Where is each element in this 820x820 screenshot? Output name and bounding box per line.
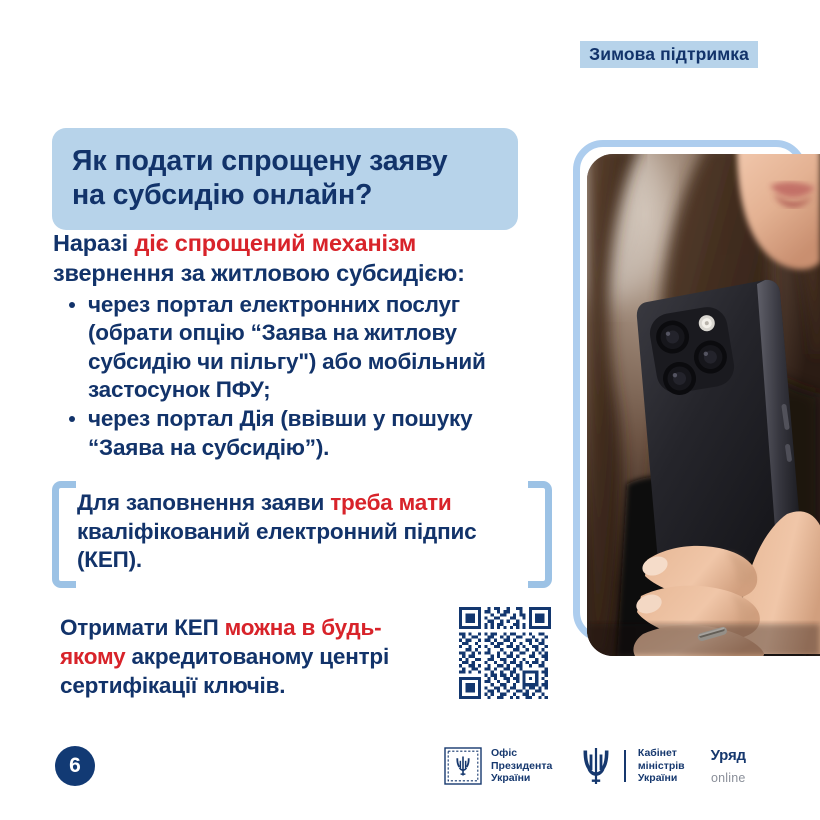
- channels-list: через портал електронних послуг (обрати …: [62, 291, 547, 463]
- page-title: Як подати спрощену заяву на субсидію онл…: [52, 128, 518, 230]
- callout-text-part-1: Для заповнення заяви: [77, 490, 330, 515]
- bracket-left-icon: [52, 481, 76, 588]
- qr-code[interactable]: [459, 607, 551, 699]
- cabinet-trident-icon: [578, 745, 614, 787]
- logo-uryad-online: Уряд online: [711, 748, 746, 785]
- logo-divider: [624, 750, 626, 782]
- logo-uryad-word: Уряд: [711, 748, 746, 763]
- list-item: через портал електронних послуг (обрати …: [62, 291, 547, 404]
- kep-paragraph: Отримати КЕП можна в будь-якому акредито…: [60, 613, 440, 700]
- logo-line-3: України: [491, 772, 552, 785]
- intro-text-part-1: Наразі: [53, 230, 134, 256]
- callout-text-part-2: кваліфікований електронний підпис (КЕП).: [77, 519, 476, 573]
- president-trident-icon: [443, 746, 483, 786]
- photo-woman-with-phone: [587, 154, 820, 656]
- kep-text-part-1: Отримати КЕП: [60, 615, 225, 640]
- logo-line-3: України: [638, 772, 685, 785]
- callout-text: Для заповнення заяви треба мати кваліфік…: [77, 489, 542, 575]
- footer-logos: Офіс Президента України Кабінет: [443, 740, 746, 792]
- page-title-line-2: на субсидію онлайн?: [72, 178, 498, 212]
- intro-paragraph: Наразі діє спрощений механізм звернення …: [53, 229, 533, 289]
- page-number-badge: 6: [55, 746, 95, 786]
- logo-online-word: online: [711, 772, 746, 785]
- bullet-dot-icon: [69, 302, 75, 308]
- status-badge: Зимова підтримка: [580, 41, 758, 68]
- logo-line-2: Президента: [491, 760, 552, 773]
- list-item-label: через портал електронних послуг (обрати …: [88, 292, 486, 402]
- photo-panel: [573, 140, 820, 656]
- logo-office-of-president: Офіс Президента України: [443, 746, 552, 786]
- logo-line-2: міністрів: [638, 760, 685, 773]
- page-title-line-1: Як подати спрощену заяву: [72, 144, 498, 178]
- logo-line-1: Кабінет: [638, 747, 685, 760]
- intro-highlight: діє спрощений механізм: [134, 230, 416, 256]
- logo-office-of-president-text: Офіс Президента України: [491, 747, 552, 785]
- bullet-dot-icon: [69, 416, 75, 422]
- intro-text-part-2: звернення за житловою субсидією:: [53, 260, 465, 286]
- logo-cabinet-of-ministers-text: Кабінет міністрів України: [638, 747, 685, 785]
- list-item: через портал Дія (ввівши у пошуку “Заява…: [62, 405, 547, 462]
- list-item-label: через портал Дія (ввівши у пошуку “Заява…: [88, 406, 472, 459]
- logo-cabinet-of-ministers: Кабінет міністрів України: [578, 745, 684, 787]
- callout-highlight: треба мати: [330, 490, 451, 515]
- logo-line-1: Офіс: [491, 747, 552, 760]
- infographic-page: Зимова підтримка Як подати спрощену заяв…: [0, 0, 820, 820]
- callout-box: Для заповнення заяви треба мати кваліфік…: [52, 481, 552, 574]
